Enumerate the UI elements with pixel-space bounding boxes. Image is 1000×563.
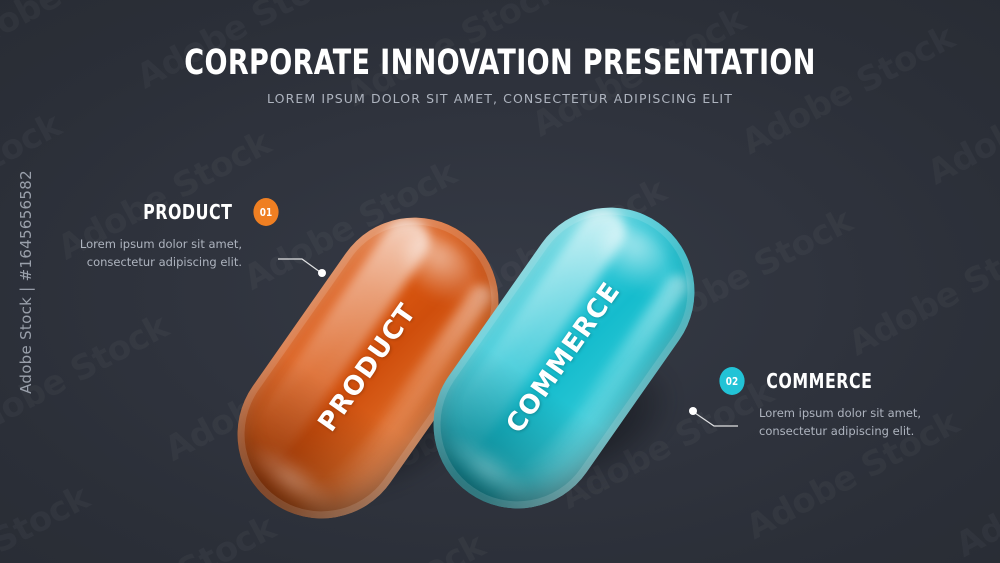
stock-watermark-text: Adobe Stock | #1645656582 (17, 170, 35, 394)
connector-line-01 (278, 250, 334, 280)
slide-canvas: Adobe StockAdobe StockAdobe StockAdobe S… (0, 0, 1000, 563)
watermark-text: Adobe Stock (842, 219, 1000, 364)
info-block-02[interactable]: 02 COMMERCE Lorem ipsum dolor sit amet, … (718, 367, 948, 441)
info-block-01[interactable]: PRODUCT 01 Lorem ipsum dolor sit amet, c… (60, 198, 280, 272)
info-head-01: PRODUCT 01 (60, 198, 280, 226)
capsule-product-label: PRODUCT (313, 298, 423, 437)
info-description-02: Lorem ipsum dolor sit amet, consectetur … (759, 405, 929, 441)
info-title-01: PRODUCT (144, 200, 233, 224)
info-title-02: COMMERCE (766, 369, 872, 393)
capsule-commerce-label: COMMERCE (501, 277, 627, 439)
badge-number-02: 02 (719, 367, 744, 395)
stock-watermark-label: Adobe Stock | #1645656582 (8, 0, 44, 563)
watermark-text: Adobe Stock (451, 556, 677, 563)
watermark-text: Adobe Stock (265, 525, 491, 563)
slide-header: CORPORATE INNOVATION PRESENTATION LOREM … (0, 44, 1000, 106)
badge-number-01: 01 (253, 198, 278, 226)
page-subtitle: LOREM IPSUM DOLOR SIT AMET, CONSECTETUR … (0, 91, 1000, 106)
page-title: CORPORATE INNOVATION PRESENTATION (70, 44, 930, 83)
watermark-text: Adobe Stock (56, 508, 282, 563)
watermark-text: Adobe Stock (949, 420, 1000, 563)
info-head-02: 02 COMMERCE (718, 367, 948, 395)
info-description-01: Lorem ipsum dolor sit amet, consectetur … (72, 236, 242, 272)
